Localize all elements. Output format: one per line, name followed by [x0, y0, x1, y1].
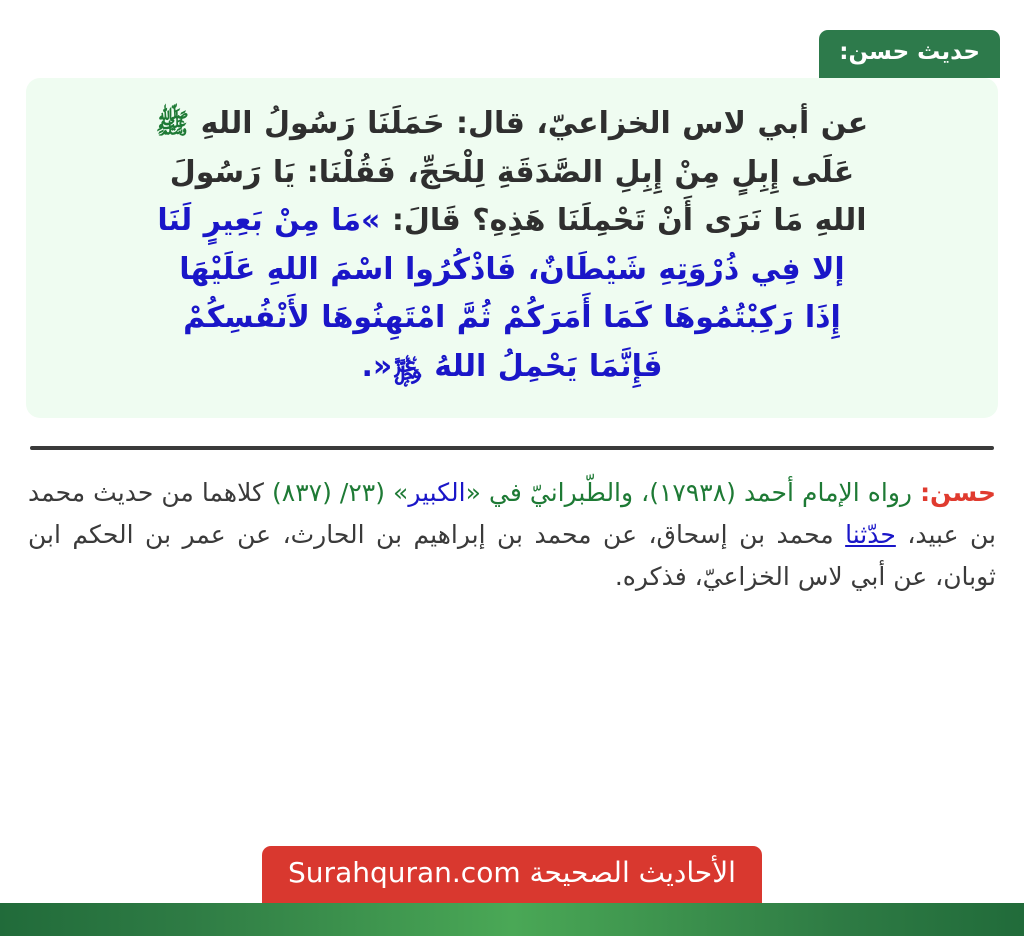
source-segment[interactable]: حدّثنا	[845, 520, 896, 549]
hadith-line: فَإِنَّمَا يَحْمِلُ اللهُ ﷿«.	[56, 343, 968, 392]
hadith-page: حديث حسن: عن أبي لاس الخزاعيّ، قال: حَمَ…	[0, 0, 1024, 936]
footer: الأحاديث الصحيحة Surahquran.com	[0, 846, 1024, 936]
hadith-grade-badge: حديث حسن:	[819, 30, 1000, 78]
azza-wa-jall-icon: ﷿	[392, 350, 423, 383]
hadith-card: عن أبي لاس الخزاعيّ، قال: حَمَلَنَا رَسُ…	[26, 78, 998, 418]
source-segment: «	[466, 478, 481, 507]
footer-green-bar	[0, 903, 1024, 936]
hadith-segment: إلا فِي ذُرْوَتِهِ شَيْطَانٌ، فَاذْكُرُو…	[179, 252, 844, 287]
hadith-line: إِذَا رَكِبْتُمُوهَا كَمَا أَمَرَكُمْ ثُ…	[56, 294, 968, 343]
hadith-line: عَلَى إِبِلٍ مِنْ إِبِلِ الصَّدَقَةِ لِل…	[56, 149, 968, 198]
section-divider	[30, 446, 994, 450]
source-segment: » (٢٣/ (٨٣٧)	[264, 478, 408, 507]
hadith-line: اللهِ مَا نَرَى أَنْ تَحْمِلَنَا هَذِهِ؟…	[56, 197, 968, 246]
hadith-segment: إِذَا رَكِبْتُمُوهَا كَمَا أَمَرَكُمْ ثُ…	[183, 300, 841, 335]
hadith-segment: »مَا مِنْ بَعِيرٍ لَنَا	[157, 203, 380, 238]
source-grade-label: حسن:	[920, 478, 996, 507]
hadith-segment: اللهِ مَا نَرَى أَنْ تَحْمِلَنَا هَذِهِ؟…	[380, 203, 866, 238]
grade-badge-row: حديث حسن:	[0, 0, 1024, 78]
hadith-line: إلا فِي ذُرْوَتِهِ شَيْطَانٌ، فَاذْكُرُو…	[56, 246, 968, 295]
source-body: رواه الإمام أحمد (١٧٩٣٨)، والطّبرانيّ في…	[28, 478, 996, 591]
hadith-segment: فَإِنَّمَا يَحْمِلُ اللهُ	[423, 349, 663, 384]
site-label-latin: Surahquran.com	[288, 856, 521, 889]
hadith-text: عن أبي لاس الخزاعيّ، قال: حَمَلَنَا رَسُ…	[56, 100, 968, 392]
hadith-line: عن أبي لاس الخزاعيّ، قال: حَمَلَنَا رَسُ…	[56, 100, 968, 149]
site-label-arabic: الأحاديث الصحيحة	[530, 856, 736, 889]
takhrij-source-block: حسن: رواه الإمام أحمد (١٧٩٣٨)، والطّبران…	[28, 472, 996, 598]
hadith-segment: «.	[362, 349, 393, 384]
sallallahu-alayhi-wasallam-icon: ﷺ	[156, 107, 189, 140]
hadith-segment: عن أبي لاس الخزاعيّ، قال: حَمَلَنَا رَسُ…	[189, 106, 868, 141]
source-segment: الكبير	[408, 478, 465, 507]
hadith-segment: عَلَى إِبِلٍ مِنْ إِبِلِ الصَّدَقَةِ لِل…	[170, 155, 854, 190]
source-segment: رواه الإمام أحمد (١٧٩٣٨)، والطّبرانيّ في	[481, 478, 920, 507]
site-badge[interactable]: الأحاديث الصحيحة Surahquran.com	[262, 846, 762, 903]
